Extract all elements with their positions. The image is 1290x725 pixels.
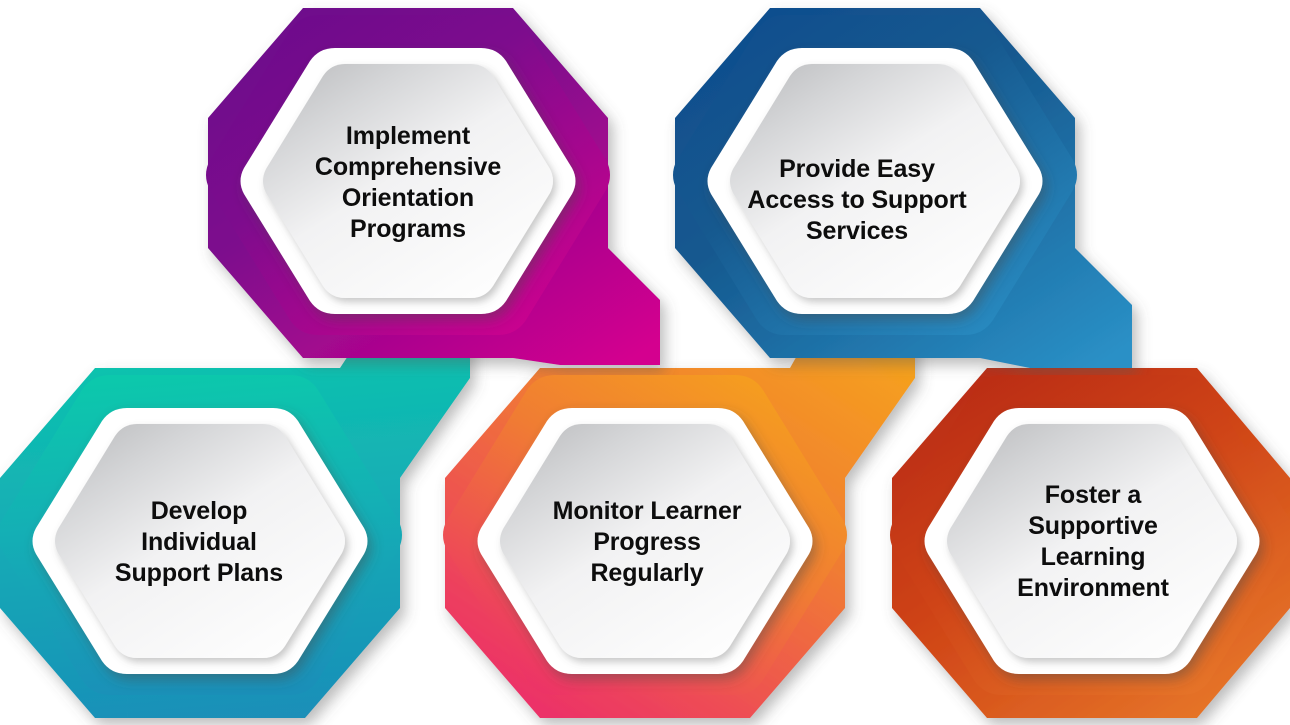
hexagon-diagram-svg (0, 0, 1290, 725)
diagram-canvas: Implement Comprehensive Orientation Prog… (0, 0, 1290, 725)
